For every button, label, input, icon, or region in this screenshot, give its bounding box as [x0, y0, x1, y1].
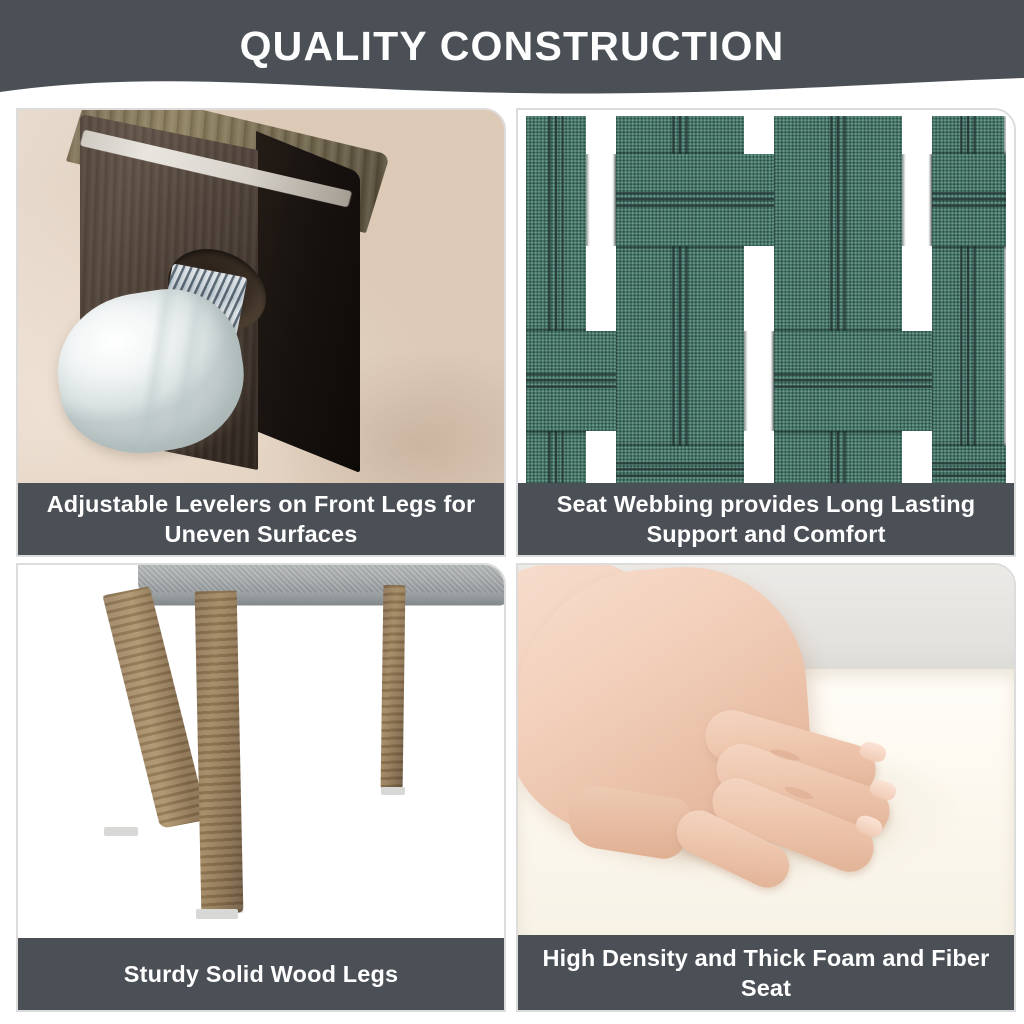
webbing-gap: [902, 246, 932, 331]
chair-leg-rear-right: [381, 585, 406, 790]
webbing-gap: [902, 431, 932, 483]
leg-foot-right: [381, 787, 405, 795]
feature-panel-webbing[interactable]: Seat Webbing provides Long Lasting Suppo…: [516, 108, 1016, 557]
wood-leg-illustration: [18, 110, 504, 487]
webbing-horizontal-strap: [932, 446, 1006, 483]
seat-webbing-photo: [518, 110, 1014, 487]
hand-illustration: [518, 569, 938, 889]
webbing-gap: [744, 116, 774, 154]
webbing-gap: [586, 246, 616, 331]
feature-panel-legs[interactable]: Sturdy Solid Wood Legs: [16, 563, 506, 1012]
feature-grid: Adjustable Levelers on Front Legs for Un…: [0, 104, 1024, 1024]
foam-press-photo: [518, 565, 1014, 939]
panel-caption-webbing: Seat Webbing provides Long Lasting Suppo…: [518, 483, 1014, 555]
panel-caption-levelers: Adjustable Levelers on Front Legs for Un…: [18, 483, 504, 555]
feature-panel-levelers[interactable]: Adjustable Levelers on Front Legs for Un…: [16, 108, 506, 557]
adjustable-leveler-photo: [18, 110, 504, 487]
webbing-weave: [526, 116, 1006, 483]
panel-caption-legs: Sturdy Solid Wood Legs: [18, 938, 504, 1010]
upholstered-seat-base: [138, 565, 504, 599]
leg-foot-center: [196, 909, 238, 919]
webbing-horizontal-strap: [774, 331, 932, 431]
webbing-frame: [518, 110, 1014, 487]
wood-legs-photo: [18, 565, 504, 942]
page-header: QUALITY CONSTRUCTION: [0, 0, 1024, 108]
webbing-horizontal-strap: [526, 331, 616, 431]
webbing-gap: [744, 246, 774, 331]
feature-panel-foam[interactable]: High Density and Thick Foam and Fiber Se…: [516, 563, 1016, 1012]
chair-leg-front-center: [195, 591, 244, 914]
webbing-horizontal-strap: [616, 154, 774, 246]
webbing-horizontal-strap: [932, 154, 1006, 246]
webbing-gap: [586, 116, 616, 154]
webbing-gap: [586, 431, 616, 483]
photo-background: [18, 565, 504, 942]
webbing-gap: [744, 431, 774, 483]
webbing-gap: [902, 116, 932, 154]
seat-fabric-texture: [138, 565, 504, 599]
leg-foot-left: [104, 827, 138, 836]
page-title: QUALITY CONSTRUCTION: [0, 22, 1024, 70]
panel-caption-foam: High Density and Thick Foam and Fiber Se…: [518, 935, 1014, 1010]
